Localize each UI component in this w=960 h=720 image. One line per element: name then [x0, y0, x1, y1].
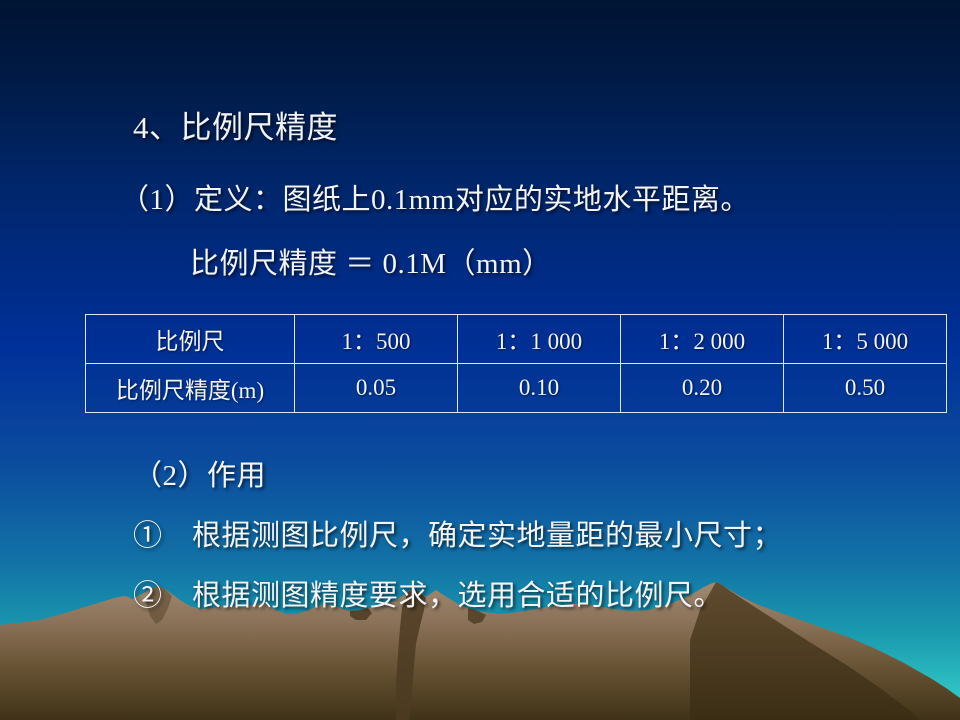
usage-list-item-1: ① 根据测图比例尺，确定实地量距的最小尺寸；	[133, 512, 782, 554]
usage-heading: （2）作用	[133, 452, 266, 494]
usage-list-item-2: ② 根据测图精度要求，选用合适的比例尺。	[133, 572, 723, 614]
table-cell: 1：500	[295, 315, 458, 364]
formula-text: 比例尺精度 ＝ 0.1M（mm）	[190, 240, 552, 282]
table-row-header: 比例尺	[86, 315, 295, 364]
scale-precision-table: 比例尺 1：500 1：1 000 1：2 000 1：5 000 比例尺精度(…	[85, 314, 947, 413]
table-row: 比例尺精度(m) 0.05 0.10 0.20 0.50	[86, 364, 947, 413]
table-cell: 0.50	[784, 364, 947, 413]
page-title: 4、比例尺精度	[133, 102, 338, 147]
table-cell: 1：1 000	[458, 315, 621, 364]
table-cell: 0.05	[295, 364, 458, 413]
table-row-header: 比例尺精度(m)	[86, 364, 295, 413]
slide-canvas: 4、比例尺精度 （1）定义：图纸上0.1mm对应的实地水平距离。 比例尺精度 ＝…	[0, 0, 960, 720]
table-cell: 1：5 000	[784, 315, 947, 364]
table-row: 比例尺 1：500 1：1 000 1：2 000 1：5 000	[86, 315, 947, 364]
table-cell: 0.10	[458, 364, 621, 413]
table-cell: 0.20	[621, 364, 784, 413]
table-cell: 1：2 000	[621, 315, 784, 364]
definition-text: （1）定义：图纸上0.1mm对应的实地水平距离。	[120, 176, 750, 218]
